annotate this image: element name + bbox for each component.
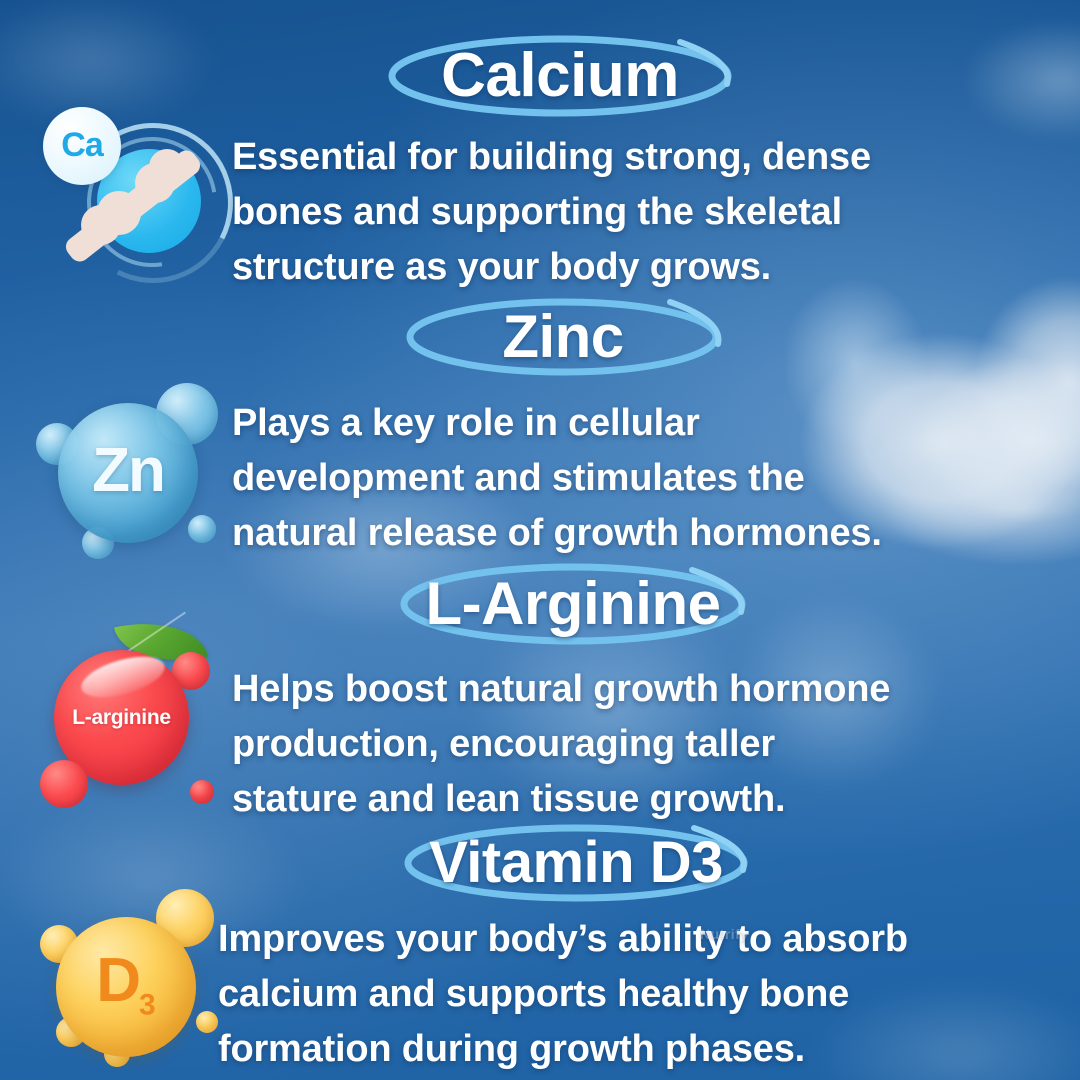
- vitamin-d3-symbol-label: D3: [96, 950, 155, 1020]
- calcium-title: Calcium: [441, 40, 679, 111]
- l-arginine-title-badge: L-Arginine: [392, 562, 754, 644]
- calcium-symbol-label: Ca: [61, 128, 102, 162]
- d3-subscript: 3: [139, 988, 156, 1021]
- calcium-description: Essential for building strong, dense bon…: [232, 130, 932, 295]
- vitamin-d3-capsule-icon: D3: [20, 885, 235, 1080]
- l-arginine-capsule-icon: L-arginine: [32, 612, 242, 817]
- calcium-bone-knob-b: [81, 205, 121, 245]
- poster-canvas: Calcium Ca Essential for building strong…: [0, 0, 1080, 1080]
- calcium-title-badge: Calcium: [380, 34, 740, 116]
- zinc-title: Zinc: [502, 302, 623, 371]
- calcium-bone-knob-d: [149, 149, 185, 185]
- zinc-title-badge: Zinc: [398, 296, 728, 376]
- zinc-description: Plays a key role in cellular development…: [232, 396, 932, 561]
- l-arginine-title: L-Arginine: [426, 569, 721, 638]
- zinc-sphere: Zn: [58, 403, 198, 543]
- d3-bubble-br: [196, 1011, 218, 1033]
- l-arginine-symbol-label: L-arginine: [72, 707, 171, 728]
- zinc-molecule-icon: Zn: [28, 375, 228, 570]
- vitamin-d3-sphere: D3: [56, 917, 196, 1057]
- calcium-symbol-bubble: Ca: [43, 107, 121, 185]
- vitamin-d3-title-badge: Vitamin D3: [396, 822, 756, 902]
- d3-letter: D: [96, 946, 139, 1015]
- brand-watermark: Nutrify: [700, 926, 749, 942]
- l-arginine-bubble-bl: [40, 760, 88, 808]
- l-arginine-bubble-br: [190, 780, 214, 804]
- calcium-bone-icon: Ca: [35, 105, 235, 295]
- zinc-bubble-br: [188, 515, 216, 543]
- zinc-symbol-label: Zn: [92, 440, 164, 502]
- l-arginine-description: Helps boost natural growth hormone produ…: [232, 662, 952, 827]
- vitamin-d3-description: Improves your body’s ability to absorb c…: [218, 912, 958, 1077]
- vitamin-d3-title: Vitamin D3: [429, 829, 723, 896]
